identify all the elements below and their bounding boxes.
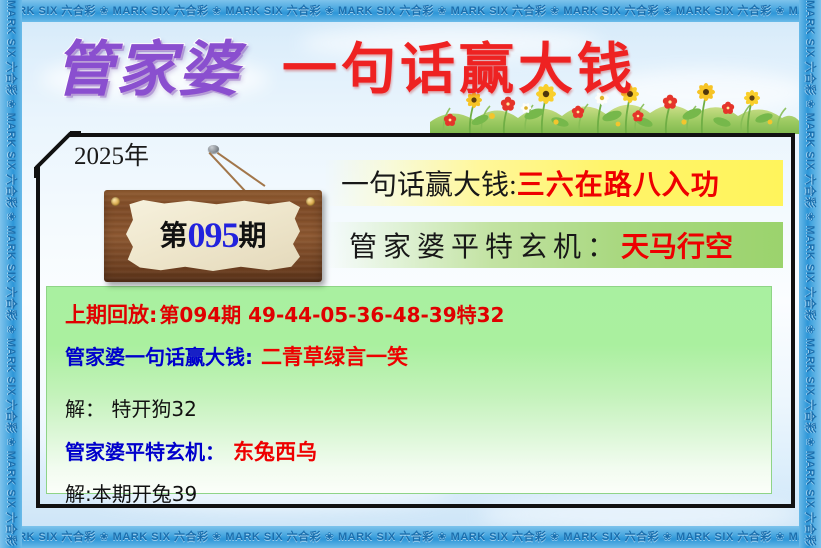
row-phrase: 管家婆一句话赢大钱: 二青草绿言一笑: [47, 341, 771, 371]
banner-green-label: 管家婆平特玄机：: [349, 225, 621, 265]
border-left: MARK SIX 六合彩 ❀ MARK SIX 六合彩 ❀ MARK SIX 六…: [0, 0, 22, 548]
banner-green-value: 天马行空: [621, 225, 733, 265]
border-bottom-text: MARK SIX 六合彩 ❀ MARK SIX 六合彩 ❀ MARK SIX 六…: [0, 526, 821, 548]
content-panel: 上期回放: 第094期 49-44-05-36-48-39特32 管家婆一句话赢…: [46, 286, 772, 494]
screw-icon: [111, 197, 120, 206]
poster-header: 管家婆 一句话赢大钱: [22, 22, 799, 130]
headline-slogan: 一句话赢大钱: [282, 42, 636, 97]
border-bottom: MARK SIX 六合彩 ❀ MARK SIX 六合彩 ❀ MARK SIX 六…: [0, 526, 821, 548]
row-last-draw-replay: 上期回放: 第094期 49-44-05-36-48-39特32: [47, 299, 771, 329]
screw-icon: [306, 197, 315, 206]
banner-yellow-value: 三六在路八入功: [517, 163, 720, 203]
row-solution-one: 解： 特开狗32: [47, 393, 771, 422]
row-xuanji: 管家婆平特玄机： 东兔西乌: [47, 436, 771, 466]
sign-paper: 第095期: [126, 200, 300, 271]
issue-prefix: 第: [159, 221, 187, 252]
phrase-value: 二青草绿言一笑: [261, 341, 408, 371]
banner-xuanji-green: 管家婆平特玄机： 天马行空: [325, 222, 783, 268]
issue-number: 095: [188, 215, 239, 255]
issue-hanging-sign: 第095期: [98, 145, 328, 290]
solution-two-text: 解:本期开兔39: [65, 478, 197, 507]
xuanji-value: 东兔西乌: [233, 436, 317, 466]
border-left-inner: MARK SIX 六合彩 ❀ MARK SIX 六合彩 ❀ MARK SIX 六…: [0, 0, 22, 548]
banner-slogan-yellow: 一句话赢大钱: 三六在路八入功: [325, 160, 783, 206]
border-top: MARK SIX 六合彩 ❀ MARK SIX 六合彩 ❀ MARK SIX 六…: [0, 0, 821, 22]
banner-yellow-label: 一句话赢大钱:: [341, 163, 517, 203]
phrase-label: 管家婆一句话赢大钱:: [65, 341, 253, 370]
border-right-inner: MARK SIX 六合彩 ❀ MARK SIX 六合彩 ❀ MARK SIX 六…: [799, 0, 821, 548]
row-solution-two: 解:本期开兔39: [47, 478, 771, 507]
border-right-text: MARK SIX 六合彩 ❀ MARK SIX 六合彩 ❀ MARK SIX 六…: [799, 0, 821, 548]
sign-wood-board: 第095期: [104, 190, 322, 282]
solution-one-text: 解： 特开狗32: [65, 393, 197, 422]
issue-suffix: 期: [239, 221, 267, 252]
border-right: MARK SIX 六合彩 ❀ MARK SIX 六合彩 ❀ MARK SIX 六…: [799, 0, 821, 548]
xuanji-label: 管家婆平特玄机：: [65, 436, 225, 465]
brand-title: 管家婆: [54, 40, 240, 100]
replay-value: 第094期 49-44-05-36-48-39特32: [159, 299, 504, 328]
replay-label: 上期回放:: [65, 299, 157, 329]
border-left-text: MARK SIX 六合彩 ❀ MARK SIX 六合彩 ❀ MARK SIX 六…: [0, 0, 22, 548]
border-top-text: MARK SIX 六合彩 ❀ MARK SIX 六合彩 ❀ MARK SIX 六…: [0, 0, 821, 22]
poster-canvas: 管家婆 一句话赢大钱: [0, 0, 821, 548]
issue-text: 第095期: [159, 217, 266, 253]
